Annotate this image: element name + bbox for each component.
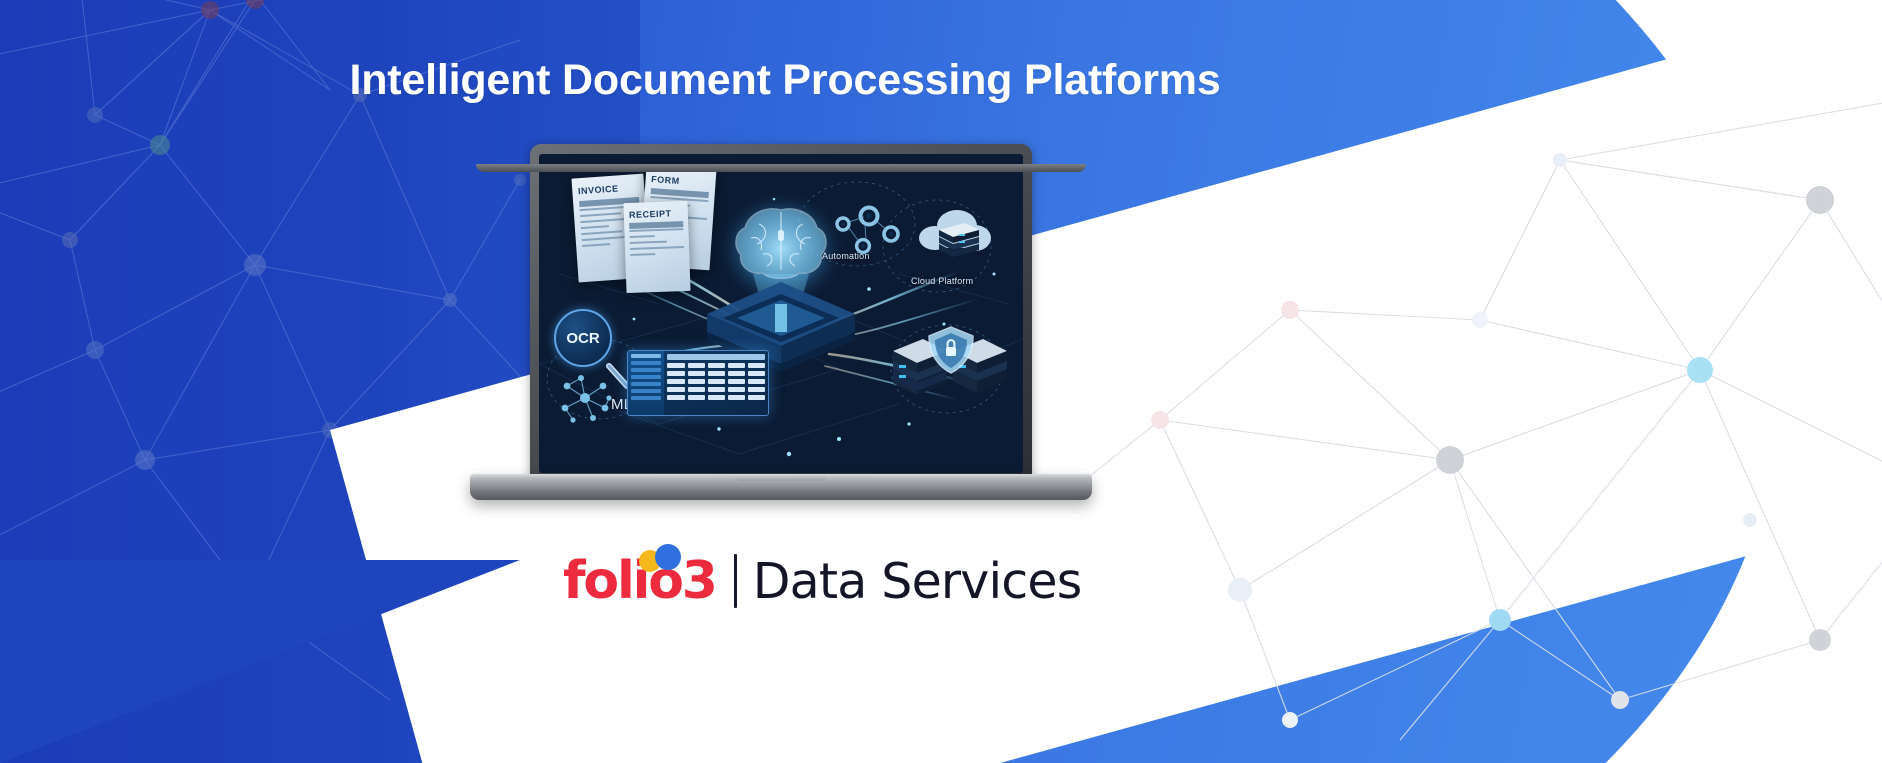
data-table-header	[667, 354, 765, 360]
automation-label: Automation	[822, 251, 870, 261]
logo-wordmark: folio3	[563, 555, 716, 607]
marketing-banner: Intelligent Document Processing Platform…	[0, 0, 1882, 763]
data-table-row	[667, 395, 765, 400]
document-lines	[629, 228, 684, 260]
document-receipt: RECEIPT	[623, 201, 690, 293]
folio3-logo[interactable]: folio3 Data Services	[563, 554, 1082, 608]
laptop-screen: INVOICE FORM RECEIPT	[539, 154, 1023, 473]
data-table-grid	[664, 351, 768, 415]
ocr-label: OCR	[566, 330, 599, 347]
data-table-sidebar	[628, 351, 664, 415]
laptop-base	[470, 474, 1092, 500]
laptop-device: INVOICE FORM RECEIPT	[470, 144, 1092, 504]
cloud-platform-label: Cloud Platform	[911, 276, 973, 286]
data-table-row	[667, 363, 765, 368]
document-form-label: FORM	[651, 174, 702, 187]
data-table-row	[667, 379, 765, 384]
screen-artwork: INVOICE FORM RECEIPT	[539, 154, 1023, 473]
laptop-lid: INVOICE FORM RECEIPT	[530, 144, 1032, 488]
document-receipt-label: RECEIPT	[629, 209, 675, 221]
document-invoice-label: INVOICE	[578, 183, 630, 197]
logo-blue-dot-icon	[655, 544, 681, 570]
logo-divider	[734, 554, 737, 608]
ocr-badge: OCR	[554, 309, 612, 367]
data-table-row	[667, 371, 765, 376]
logo-product-text: Data Services	[753, 557, 1082, 606]
data-table-row	[667, 387, 765, 392]
laptop-base-lip	[476, 164, 1086, 172]
banner-title: Intelligent Document Processing Platform…	[0, 56, 1570, 105]
data-table-card	[627, 350, 769, 416]
